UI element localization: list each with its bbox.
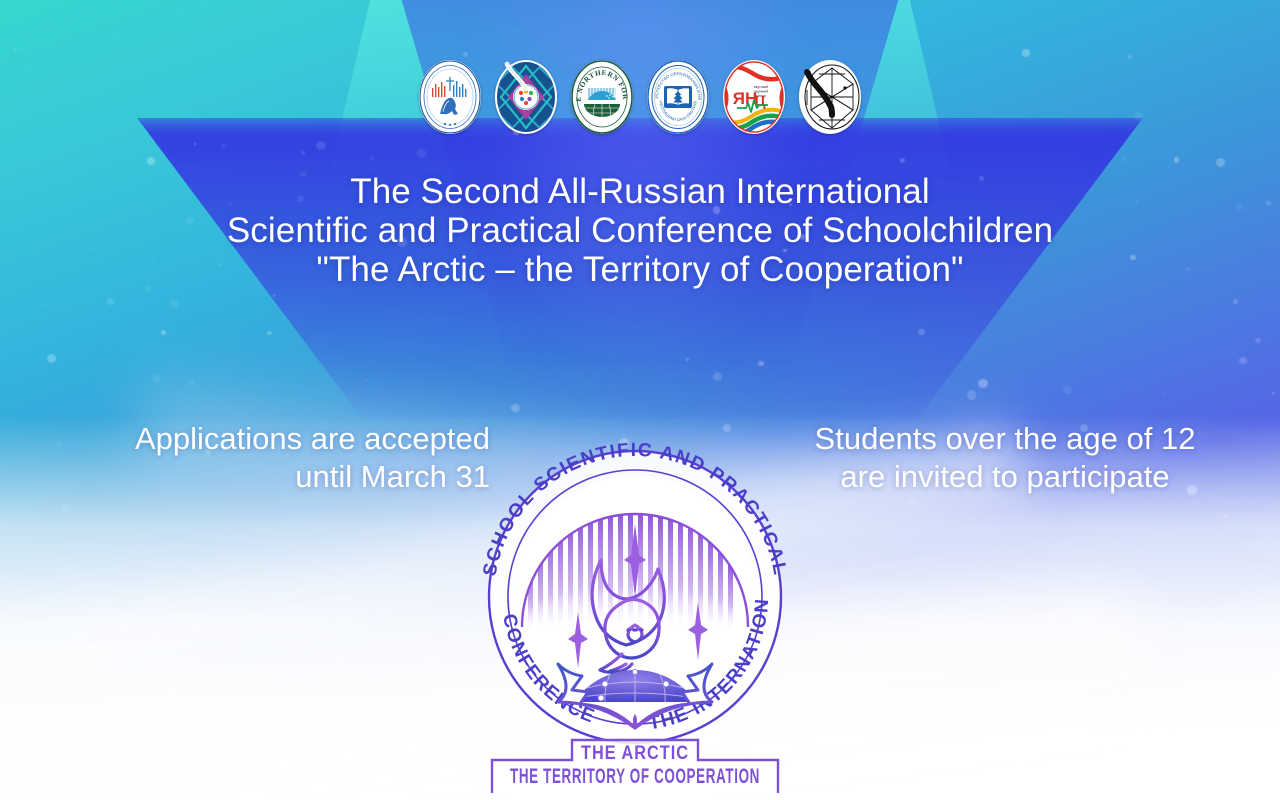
north-eastern-federal-university-logo: [419, 60, 481, 134]
eligibility-note-line-2: are invited to participate: [770, 458, 1240, 496]
yakut-scientific-center-logo: ЯН Ц якутский научный центр: [723, 60, 785, 134]
deadline-note-line-1: Applications are accepted: [40, 420, 490, 458]
headline-line-1: The Second All-Russian International: [0, 172, 1280, 211]
deadline-note: Applications are accepted until March 31: [40, 420, 490, 496]
ministry-of-education-sakha-logo: МИНИСТЕРСТВО ОБРАЗОВАНИЯ И НАУКИ РЕСПУБЛ…: [647, 60, 709, 134]
eligibility-note: Students over the age of 12 are invited …: [770, 420, 1240, 496]
youth-of-yakutia-logo: [495, 60, 557, 134]
the-northern-forum-logo: THE NORTHERN FORUM: [571, 60, 633, 134]
deadline-note-line-2: until March 31: [40, 458, 490, 496]
partner-logo-strip: THE NORTHERN FORUM: [0, 60, 1280, 134]
diamond-y-logo: [799, 60, 861, 134]
headline-line-3: "The Arctic – the Territory of Cooperati…: [0, 250, 1280, 289]
emblem-banner-line-2: THE TERRITORY OF COOPERATION: [510, 765, 760, 788]
page-title: The Second All-Russian International Sci…: [0, 172, 1280, 289]
eligibility-note-line-1: Students over the age of 12: [770, 420, 1240, 458]
svg-text:якутский: якутский: [754, 85, 768, 89]
svg-text:научный: научный: [754, 90, 768, 94]
emblem-banner-line-1: THE ARCTIC: [581, 743, 689, 764]
headline-line-2: Scientific and Practical Conference of S…: [0, 211, 1280, 250]
svg-text:центр: центр: [756, 94, 766, 98]
conference-emblem: SCHOOL SCIENTIFIC AND PRACTICAL CONFEREN…: [470, 412, 800, 800]
conference-poster: THE NORTHERN FORUM: [0, 0, 1280, 800]
